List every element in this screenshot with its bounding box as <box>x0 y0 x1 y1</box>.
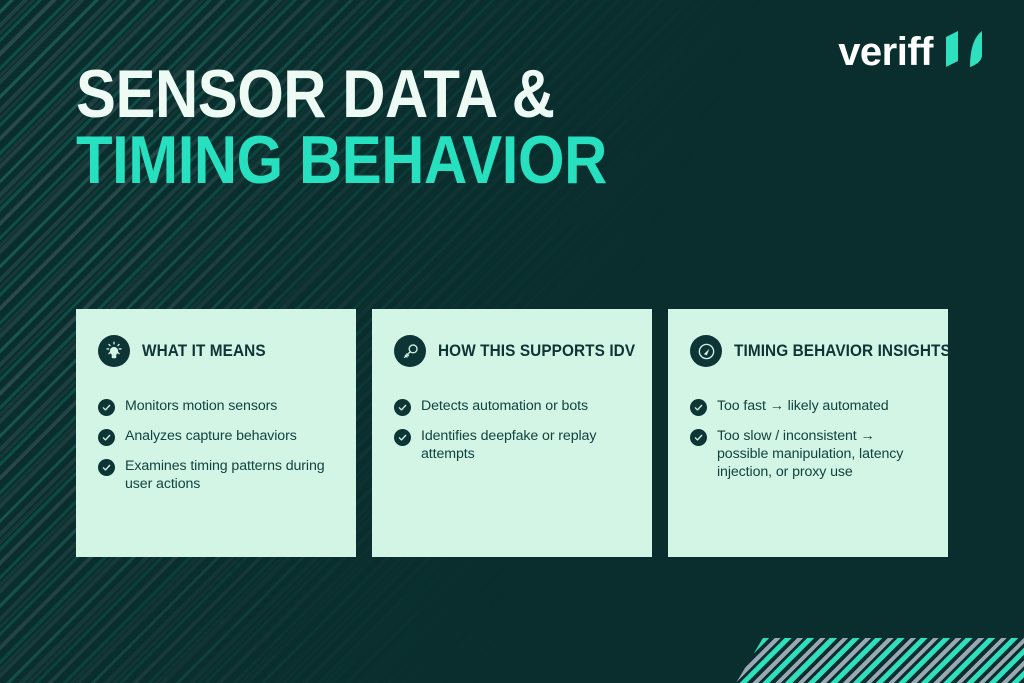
list-item-label: Monitors motion sensors <box>125 397 277 415</box>
veriff-logo: veriff <box>838 27 984 76</box>
logo-wordmark: veriff <box>838 32 933 72</box>
bullet-list: Detects automation or bots Identifies de… <box>394 397 630 463</box>
check-circle-icon <box>394 399 411 416</box>
list-item: Examines timing patterns during user act… <box>98 457 334 493</box>
list-item-label: Too slow / inconsistent → possible manip… <box>717 427 926 482</box>
corner-stripe-accent <box>724 638 1024 683</box>
slide-canvas: veriff SENSOR DATA & TIMING BEHAVIOR <box>0 0 1024 683</box>
check-circle-icon <box>690 429 707 446</box>
card-heading: TIMING BEHAVIOR INSIGHTS <box>734 343 951 360</box>
veriff-leaf-mark-icon <box>944 27 984 76</box>
list-item: Too slow / inconsistent → possible manip… <box>690 427 926 482</box>
gauge-icon <box>690 335 722 367</box>
check-circle-icon <box>690 399 707 416</box>
list-item: Detects automation or bots <box>394 397 630 416</box>
list-item-label: Too fast → likely automated <box>717 397 889 415</box>
list-item: Identifies deepfake or replay attempts <box>394 427 630 463</box>
list-item-label: Analyzes capture behaviors <box>125 427 297 445</box>
list-item-label: Examines timing patterns during user act… <box>125 457 334 493</box>
lightbulb-icon <box>98 335 130 367</box>
card-header: TIMING BEHAVIOR INSIGHTS <box>690 335 926 367</box>
list-item-label: Identifies deepfake or replay attempts <box>421 427 630 463</box>
list-item: Monitors motion sensors <box>98 397 334 416</box>
check-circle-icon <box>98 399 115 416</box>
title-line-2: TIMING BEHAVIOR <box>76 128 607 194</box>
check-circle-icon <box>394 429 411 446</box>
bullet-list: Too fast → likely automated Too slow / i… <box>690 397 926 482</box>
page-title: SENSOR DATA & TIMING BEHAVIOR <box>76 62 679 194</box>
check-circle-icon <box>98 459 115 476</box>
check-circle-icon <box>98 429 115 446</box>
list-item: Too fast → likely automated <box>690 397 926 416</box>
card-what-it-means: WHAT IT MEANS Monitors motion sensors An… <box>76 309 356 557</box>
bullet-list: Monitors motion sensors Analyzes capture… <box>98 397 334 493</box>
key-icon <box>394 335 426 367</box>
card-header: WHAT IT MEANS <box>98 335 334 367</box>
card-timing-behavior-insights: TIMING BEHAVIOR INSIGHTS Too fast → like… <box>668 309 948 557</box>
card-row: WHAT IT MEANS Monitors motion sensors An… <box>76 309 948 557</box>
list-item: Analyzes capture behaviors <box>98 427 334 446</box>
card-how-this-supports-idv: HOW THIS SUPPORTS IDV Detects automation… <box>372 309 652 557</box>
card-header: HOW THIS SUPPORTS IDV <box>394 335 630 367</box>
card-heading: HOW THIS SUPPORTS IDV <box>438 343 635 360</box>
card-heading: WHAT IT MEANS <box>142 343 266 360</box>
list-item-label: Detects automation or bots <box>421 397 588 415</box>
title-line-1: SENSOR DATA & <box>76 62 607 128</box>
